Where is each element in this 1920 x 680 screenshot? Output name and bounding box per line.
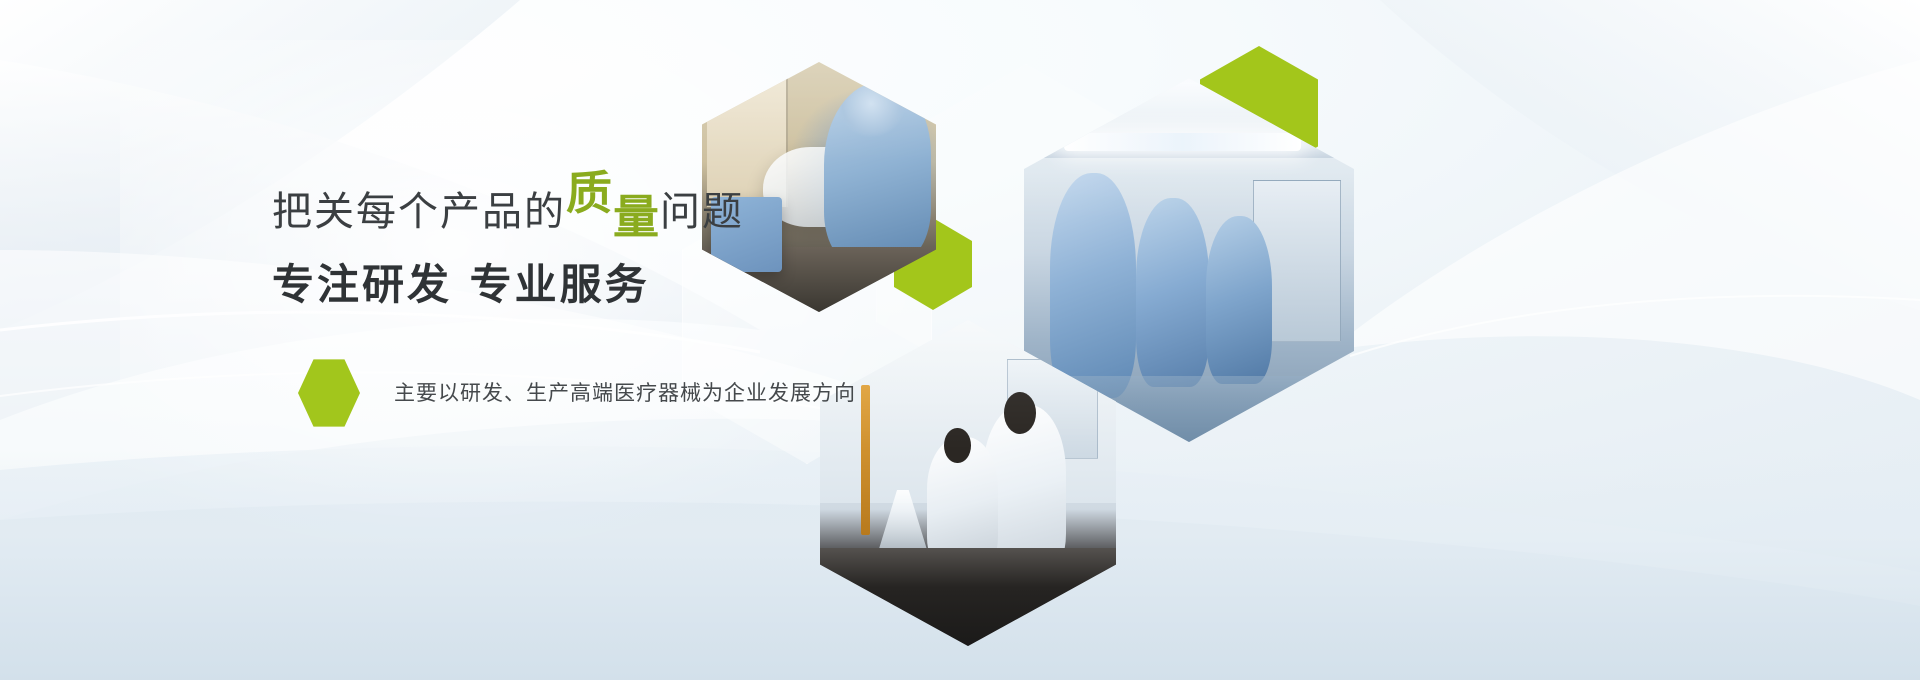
hero-description-text: 主要以研发、生产高端医疗器械为企业发展方向 <box>394 375 856 412</box>
hero-banner: 把关每个产品的质量问题 专注研发 专业服务 主要以研发、生产高端医疗器械为企业发… <box>0 0 1920 680</box>
headline-prefix: 把关每个产品的 <box>272 181 566 243</box>
headline-highlight-quality-zhi: 质 <box>566 162 613 224</box>
headline-line-2: 专注研发 专业服务 <box>272 256 912 314</box>
hexagon-bullet-icon <box>298 358 360 428</box>
hero-description-line-1: 主要以研发、生产高端医疗器械为企业发展方向 <box>394 375 856 412</box>
headline-suffix: 问题 <box>660 181 744 243</box>
hero-copy-block: 把关每个产品的质量问题 专注研发 专业服务 <box>272 178 912 314</box>
hexagon-photo-cluster <box>680 0 1480 680</box>
hero-description-block: 主要以研发、生产高端医疗器械为企业发展方向 <box>298 358 856 428</box>
headline-line-1: 把关每个产品的质量问题 <box>272 178 912 240</box>
headline-highlight-quality-liang: 量 <box>613 186 660 248</box>
